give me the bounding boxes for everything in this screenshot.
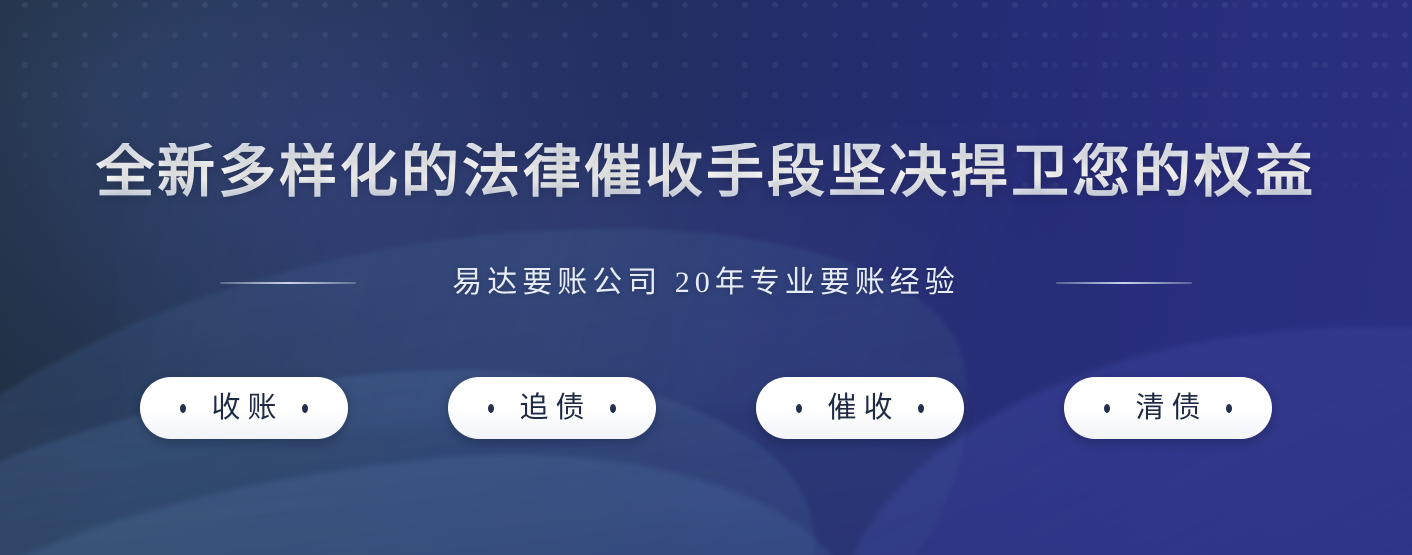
service-pill-zhuizhai[interactable]: 追债 [448, 377, 656, 439]
promotional-banner: 全新多样化的法律催收手段坚决捍卫您的权益 易达要账公司 20年专业要账经验 收账… [0, 0, 1412, 555]
service-pill-cuishou[interactable]: 催收 [756, 377, 964, 439]
bullet-dot-icon [610, 404, 616, 413]
subtitle-right-rule [1056, 282, 1192, 284]
bullet-dot-icon [302, 404, 308, 413]
service-pill-row: 收账 追债 催收 清债 [0, 377, 1412, 439]
service-pill-qingzhai[interactable]: 清债 [1064, 377, 1272, 439]
service-pill-label: 追债 [512, 394, 591, 423]
bullet-dot-icon [180, 404, 186, 413]
bullet-dot-icon [1226, 404, 1232, 413]
subtitle-left-rule [220, 282, 356, 284]
service-pill-label: 清债 [1128, 394, 1207, 423]
bullet-dot-icon [918, 404, 924, 413]
service-pill-label: 催收 [820, 394, 899, 423]
banner-subtitle-row: 易达要账公司 20年专业要账经验 [0, 268, 1412, 298]
service-pill-label: 收账 [204, 394, 283, 423]
bullet-dot-icon [796, 404, 802, 413]
banner-subtitle: 易达要账公司 20年专业要账经验 [452, 268, 960, 298]
bullet-dot-icon [488, 404, 494, 413]
banner-content: 全新多样化的法律催收手段坚决捍卫您的权益 易达要账公司 20年专业要账经验 收账… [0, 0, 1412, 555]
service-pill-shouzhang[interactable]: 收账 [140, 377, 348, 439]
banner-headline: 全新多样化的法律催收手段坚决捍卫您的权益 [0, 143, 1412, 201]
bullet-dot-icon [1104, 404, 1110, 413]
